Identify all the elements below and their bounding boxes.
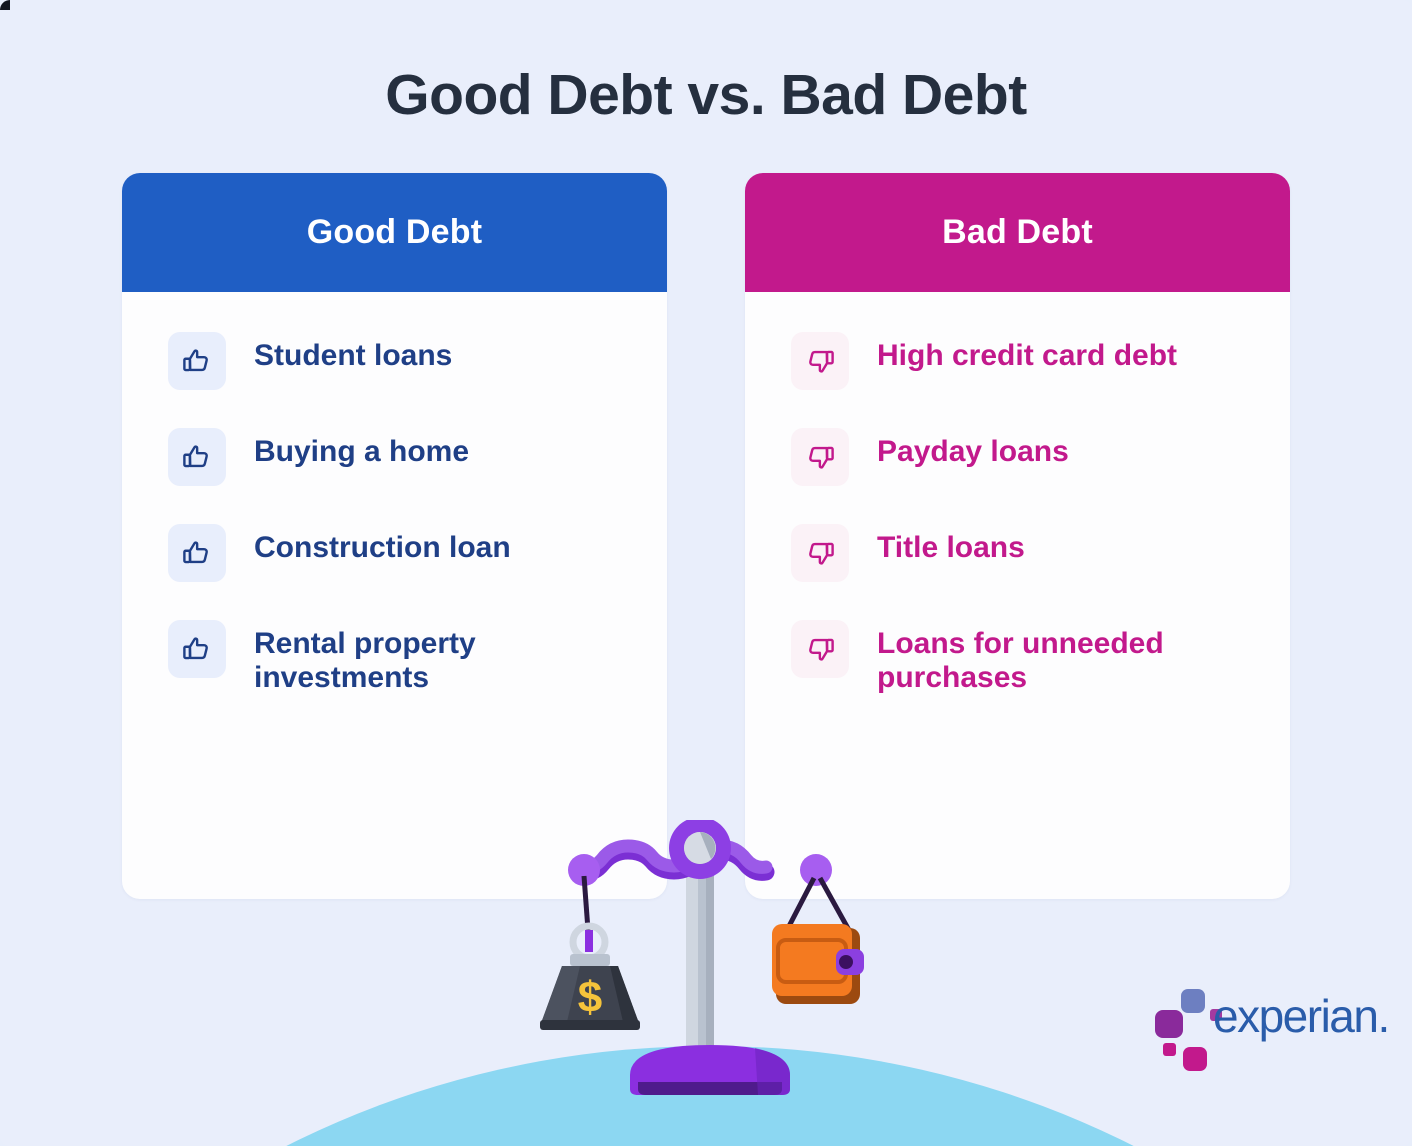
list-item-label: Rental property investments (254, 618, 584, 695)
balance-scale-illustration: $ (540, 820, 880, 1110)
thumbs-up-icon (168, 428, 226, 486)
experian-wordmark: experian. (1213, 989, 1389, 1043)
infographic-canvas: Good Debt vs. Bad Debt Good Debt Student… (0, 0, 1412, 1146)
list-item-label: Loans for unneeded purchases (877, 618, 1207, 695)
bad-debt-header: Bad Debt (745, 173, 1290, 292)
list-item-label: Title loans (877, 522, 1025, 565)
list-item: Construction loan (122, 522, 667, 582)
weight-with-dollar-sign: $ (540, 954, 640, 1030)
scale-base (630, 1045, 790, 1095)
list-item: Loans for unneeded purchases (745, 618, 1290, 695)
list-item-label: Student loans (254, 330, 452, 373)
list-item: Student loans (122, 330, 667, 390)
thumbs-up-icon (168, 332, 226, 390)
list-item: Rental property investments (122, 618, 667, 695)
good-debt-header: Good Debt (122, 173, 667, 292)
good-debt-list: Student loans Buying a home (122, 292, 667, 695)
experian-logo: experian. (1155, 985, 1355, 1055)
list-item: Payday loans (745, 426, 1290, 486)
corner-marker (0, 0, 10, 10)
wallet (772, 924, 864, 1004)
right-pivot-knob (800, 854, 832, 886)
list-item: Buying a home (122, 426, 667, 486)
list-item-label: Buying a home (254, 426, 469, 469)
thumbs-up-icon (168, 620, 226, 678)
thumbs-down-icon (791, 332, 849, 390)
thumbs-down-icon (791, 524, 849, 582)
thumbs-down-icon (791, 620, 849, 678)
page-title: Good Debt vs. Bad Debt (0, 62, 1412, 128)
logo-dot-purple-large (1155, 1010, 1183, 1038)
bad-debt-card: Bad Debt High credit card debt (745, 173, 1290, 899)
good-debt-card: Good Debt Student loans (122, 173, 667, 899)
bad-debt-list: High credit card debt Payday loans (745, 292, 1290, 695)
thumbs-up-icon (168, 524, 226, 582)
list-item: High credit card debt (745, 330, 1290, 390)
list-item-label: Construction loan (254, 522, 511, 565)
logo-dot-magenta-large (1183, 1047, 1207, 1071)
dollar-sign: $ (578, 973, 602, 1022)
list-item: Title loans (745, 522, 1290, 582)
thumbs-down-icon (791, 428, 849, 486)
list-item-label: Payday loans (877, 426, 1069, 469)
logo-dot-blue (1181, 989, 1205, 1013)
logo-dot-magenta-small (1163, 1043, 1176, 1056)
list-item-label: High credit card debt (877, 330, 1177, 373)
